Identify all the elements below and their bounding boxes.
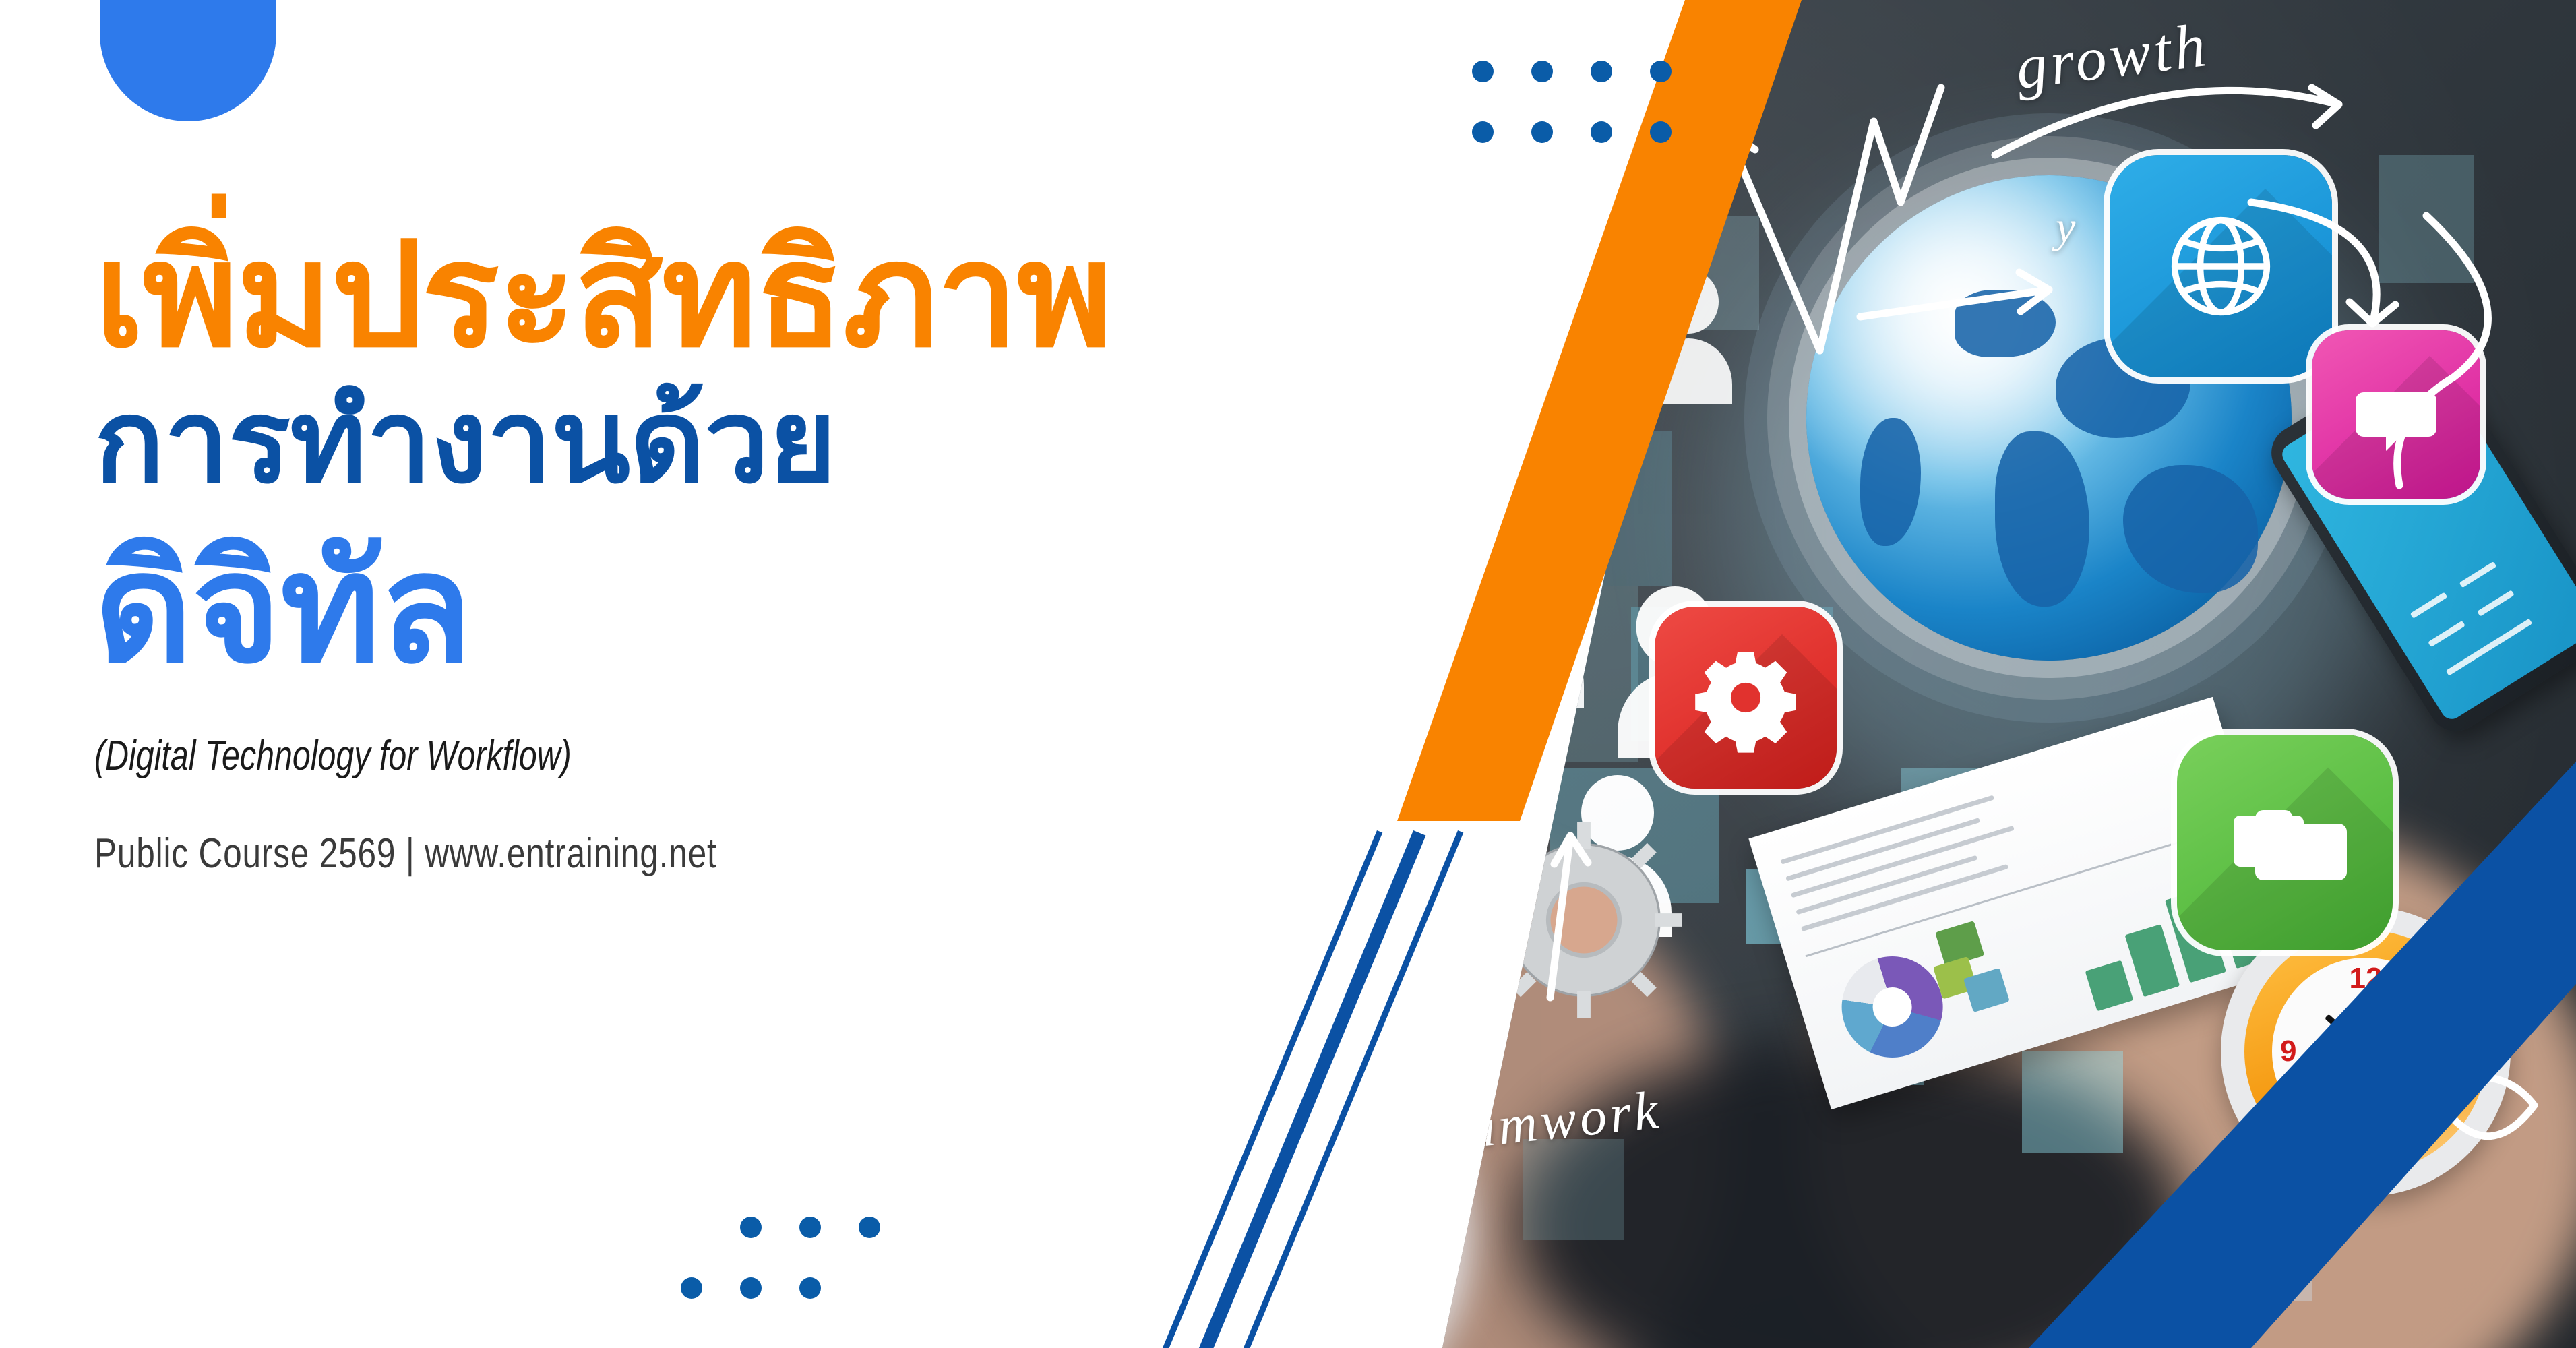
dot-grid-bottom [681,1217,918,1338]
course-banner: 12 3 6 9 [0,0,2576,1348]
handwriting-axis-x: x [1752,40,1773,86]
person-silhouette [1483,553,1584,708]
dot [1650,121,1672,143]
translucent-square [1523,1139,1624,1240]
headline-block: เพิ่มประสิทธิภาพ การทำงานด้วย ดิจิทัล (D… [94,222,1240,878]
translucent-square [1469,270,1604,445]
person-silhouette [1645,270,1732,404]
plus-icon [1286,814,1390,919]
blue-arch-shape [100,0,276,121]
dot [740,1217,762,1238]
headline-line-2: การทำงานด้วย [94,367,1240,516]
handwriting-growth: growth [2012,9,2213,103]
dot [859,1217,880,1238]
doc-bar [2085,960,2134,1012]
doc-donut-chart [1829,944,1955,1070]
chat-app-icon [2312,330,2480,499]
gear-icon [1688,640,1803,755]
clock-numeral-9: 9 [2280,1035,2296,1068]
headline-line-3: ดิจิทัล [94,516,1240,701]
clock-numeral-3: 3 [2435,1035,2451,1068]
translucent-square [2379,155,2474,283]
doc-text-line [1781,795,1995,864]
dot-grid-top [1472,61,1709,182]
speech-bubble-icon [2345,364,2447,465]
clock-minute-hand [2303,1049,2367,1086]
clock-numeral-12: 12 [2350,962,2383,995]
person-silhouette [1543,222,1645,377]
folder-icon [2217,775,2352,910]
translucent-square [2022,1051,2123,1153]
dot [681,1277,702,1299]
dot [1531,121,1553,143]
dot [1650,61,1672,82]
clock-face: 12 3 6 9 [2272,958,2459,1145]
doc-text-line [1791,826,2015,898]
blurred-shirt [1051,1024,1469,1348]
clock-center-pin [2360,1046,2371,1057]
dot [1591,61,1612,82]
folder-app-icon [2177,735,2393,950]
globe-icon [2157,202,2285,330]
handwriting-axis-y: y [2056,202,2079,253]
english-subtitle: (Digital Technology for Workflow) [94,732,988,780]
globe-app-icon [2110,155,2332,377]
dot [799,1277,821,1299]
person-silhouette [1429,714,1530,866]
dot [740,1277,762,1299]
dot [799,1217,821,1238]
dot [1591,121,1612,143]
course-meta-line: Public Course 2569 | www.entraining.net [94,830,1011,878]
doc-bar [2125,924,2180,997]
clock-numeral-6: 6 [2358,1107,2374,1141]
gear-app-icon [1655,607,1837,789]
translucent-square [2190,1186,2312,1301]
clock-rim: 12 3 6 9 [2244,930,2487,1173]
headline-line-1: เพิ่มประสิทธิภาพ [94,222,1240,367]
translucent-square [1516,431,1672,586]
doc-text-line [1801,864,2008,931]
large-gear-graphic [1473,809,1695,1031]
dot [1472,121,1494,143]
gear-icon [1473,809,1695,1031]
dot [1531,61,1553,82]
dot [1472,61,1494,82]
translucent-square [1436,586,1638,762]
